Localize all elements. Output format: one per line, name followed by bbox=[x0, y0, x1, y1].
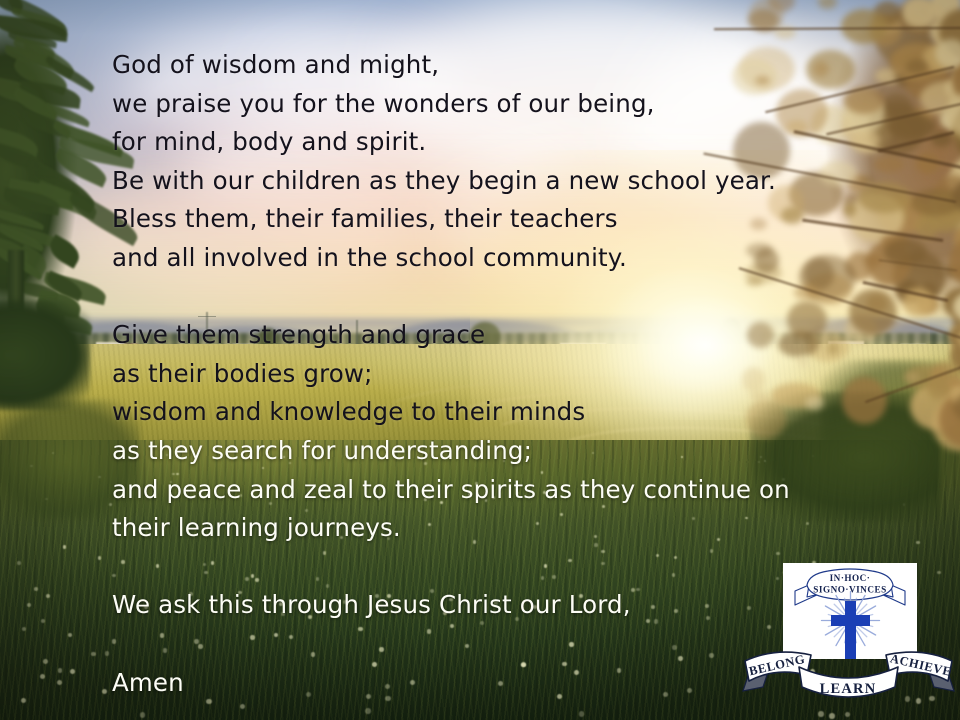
prayer-line: as their bodies grow; bbox=[112, 355, 852, 394]
wildflower bbox=[43, 659, 48, 664]
wildflower bbox=[102, 689, 107, 694]
wildflower bbox=[829, 713, 835, 719]
wildflower bbox=[937, 571, 941, 575]
prayer-line: Give them strength and grace bbox=[112, 316, 852, 355]
wildflower bbox=[17, 561, 21, 565]
wildflower bbox=[91, 652, 96, 657]
tree-leaf-cluster bbox=[874, 156, 904, 173]
tree-leaf-cluster bbox=[935, 39, 960, 68]
prayer-line: for mind, body and spirit. bbox=[112, 123, 852, 162]
prayer-line: Bless them, their families, their teache… bbox=[112, 200, 852, 239]
wildflower bbox=[916, 541, 919, 544]
wildflower bbox=[63, 545, 66, 548]
wildflower bbox=[365, 708, 370, 713]
wildflower bbox=[240, 704, 245, 709]
prayer-slide: God of wisdom and might,we praise you fo… bbox=[0, 0, 960, 720]
prayer-line: their learning journeys. bbox=[112, 509, 852, 548]
prayer-line: We ask this through Jesus Christ our Lor… bbox=[112, 586, 852, 625]
prayer-line: God of wisdom and might, bbox=[112, 46, 852, 85]
motto-line1: IN·HOC· bbox=[830, 573, 871, 583]
prayer-line: and all involved in the school community… bbox=[112, 239, 852, 278]
prayer-line: wisdom and knowledge to their minds bbox=[112, 393, 852, 432]
wildflower bbox=[140, 712, 146, 718]
prayer-line: and peace and zeal to their spirits as t… bbox=[112, 471, 852, 510]
left-tree-base-foliage bbox=[0, 300, 90, 410]
prayer-line bbox=[112, 278, 852, 317]
tree-leaf-cluster bbox=[928, 377, 950, 400]
wildflower bbox=[46, 594, 50, 598]
wildflower bbox=[57, 680, 62, 685]
school-motto-banner: BELONG LEARN ACHIEVE bbox=[737, 641, 960, 705]
wildflower bbox=[41, 619, 45, 623]
prayer-line bbox=[112, 548, 852, 587]
tree-leaf-cluster bbox=[841, 9, 887, 44]
wildflower bbox=[818, 711, 823, 716]
wildflower bbox=[105, 651, 110, 656]
wildflower bbox=[98, 556, 101, 559]
banner-artwork: BELONG LEARN ACHIEVE bbox=[737, 641, 960, 705]
prayer-line: Be with our children as they begin a new… bbox=[112, 162, 852, 201]
prayer-text: God of wisdom and might,we praise you fo… bbox=[112, 46, 852, 702]
wildflower bbox=[34, 587, 38, 591]
prayer-line: we praise you for the wonders of our bei… bbox=[112, 85, 852, 124]
banner-learn: LEARN bbox=[820, 681, 877, 697]
prayer-line: as they search for understanding; bbox=[112, 432, 852, 471]
